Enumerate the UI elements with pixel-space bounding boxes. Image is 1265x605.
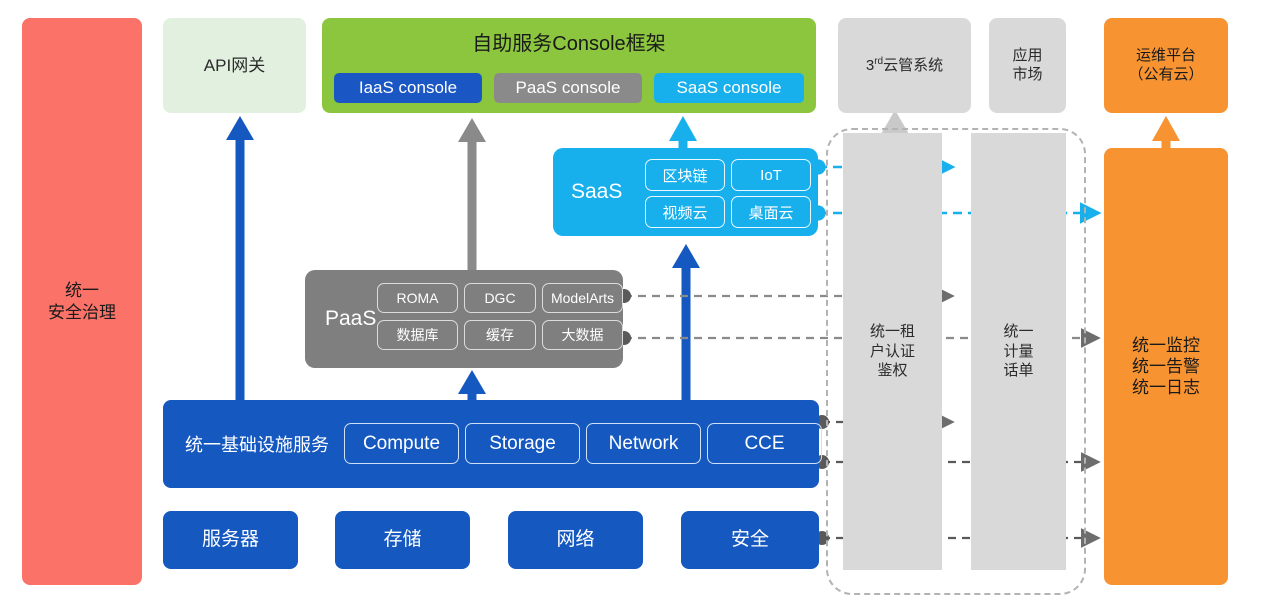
paas-item-bigdata-label: 大数据	[562, 325, 604, 345]
resource-network-label: 网络	[556, 528, 594, 552]
metering-line-1: 统一	[1003, 322, 1033, 342]
saas-item-blockchain[interactable]: 区块链	[645, 159, 725, 191]
arrow-opspanel-to-opsplatform	[1152, 116, 1180, 148]
paas-console-chip[interactable]: PaaS console	[494, 73, 642, 103]
resource-box-network[interactable]: 网络	[508, 511, 643, 569]
saas-console-chip[interactable]: SaaS console	[654, 73, 804, 103]
security-governance-label: 统一 安全治理	[48, 280, 116, 323]
saas-item-blockchain-label: 区块链	[662, 165, 707, 186]
saas-item-iot[interactable]: IoT	[731, 159, 811, 191]
saas-label: SaaS	[571, 180, 622, 204]
arrow-paas-to-console	[458, 118, 486, 272]
app-market-line-2: 市场	[1012, 66, 1042, 85]
ops-line-3: 统一日志	[1132, 377, 1200, 398]
tenant-auth-column[interactable]: 统一租 户认证 鉴权	[843, 133, 942, 570]
infra-item-network[interactable]: Network	[586, 423, 701, 464]
tenant-auth-line-2: 户认证	[870, 342, 915, 362]
metering-line-3: 话单	[1003, 361, 1033, 381]
arrow-infra-to-saas	[672, 244, 700, 400]
unified-infrastructure-bar[interactable]: 统一基础设施服务 Compute Storage Network CCE	[163, 400, 819, 488]
third-party-suffix: 云管系统	[883, 57, 943, 74]
metering-billing-label: 统一 计量 话单	[1003, 322, 1033, 381]
paas-item-roma-label: ROMA	[397, 290, 439, 306]
paas-item-dgc-label: DGC	[484, 290, 515, 306]
resource-storage-label: 存储	[383, 528, 421, 552]
paas-item-cache[interactable]: 缓存	[464, 320, 536, 350]
api-gateway-box[interactable]: API网关	[163, 18, 306, 113]
saas-console-label: SaaS console	[677, 77, 782, 98]
resource-box-storage[interactable]: 存储	[335, 511, 470, 569]
ops-platform-label: 运维平台 （公有云）	[1128, 47, 1203, 85]
metering-line-2: 计量	[1003, 342, 1033, 362]
arrow-infra-to-apigw	[226, 116, 254, 400]
resource-security-label: 安全	[731, 528, 769, 552]
third-party-sup: rd	[874, 56, 883, 67]
ops-platform-line-1: 运维平台	[1128, 47, 1203, 66]
security-line-1: 统一	[48, 280, 116, 301]
tenant-auth-line-3: 鉴权	[870, 361, 915, 381]
saas-item-video-cloud[interactable]: 视频云	[645, 196, 725, 228]
ops-platform-box[interactable]: 运维平台 （公有云）	[1104, 18, 1228, 113]
paas-item-modelarts[interactable]: ModelArts	[542, 283, 623, 313]
console-framework-box[interactable]: 自助服务Console框架 IaaS console PaaS console …	[322, 18, 816, 113]
paas-label: PaaS	[325, 307, 376, 331]
api-gateway-label: API网关	[204, 55, 265, 76]
third-party-cloud-mgmt-box[interactable]: 3rd云管系统	[838, 18, 971, 113]
paas-item-database-label: 数据库	[397, 325, 439, 345]
infra-item-compute-label: Compute	[363, 433, 440, 455]
infra-item-cce[interactable]: CCE	[707, 423, 822, 464]
paas-item-modelarts-label: ModelArts	[551, 290, 614, 306]
iaas-console-chip[interactable]: IaaS console	[334, 73, 482, 103]
paas-item-roma[interactable]: ROMA	[377, 283, 458, 313]
tenant-auth-label: 统一租 户认证 鉴权	[870, 322, 915, 381]
architecture-diagram: 统一 安全治理 API网关 自助服务Console框架 IaaS console…	[0, 0, 1265, 605]
paas-item-database[interactable]: 数据库	[377, 320, 458, 350]
ops-platform-line-2: （公有云）	[1128, 66, 1203, 85]
resource-box-security[interactable]: 安全	[681, 511, 819, 569]
security-governance-panel[interactable]: 统一 安全治理	[22, 18, 142, 585]
iaas-console-label: IaaS console	[359, 77, 457, 98]
third-party-prefix: 3	[866, 57, 874, 74]
paas-item-dgc[interactable]: DGC	[464, 283, 536, 313]
arrow-infra-to-paas	[458, 370, 486, 400]
saas-item-desktop-cloud[interactable]: 桌面云	[731, 196, 811, 228]
resource-box-server[interactable]: 服务器	[163, 511, 298, 569]
infra-item-storage[interactable]: Storage	[465, 423, 580, 464]
console-framework-title: 自助服务Console框架	[322, 32, 816, 57]
saas-box[interactable]: SaaS 区块链 IoT 视频云 桌面云	[553, 148, 818, 236]
app-market-line-1: 应用	[1012, 47, 1042, 66]
unified-infrastructure-label: 统一基础设施服务	[185, 431, 329, 457]
infra-item-cce-label: CCE	[744, 433, 784, 455]
arrow-saas-to-console	[669, 116, 697, 150]
app-market-box[interactable]: 应用 市场	[989, 18, 1066, 113]
paas-item-bigdata[interactable]: 大数据	[542, 320, 623, 350]
infra-item-storage-label: Storage	[489, 433, 556, 455]
resource-server-label: 服务器	[202, 528, 259, 552]
saas-item-desktop-cloud-label: 桌面云	[748, 202, 793, 223]
ops-line-1: 统一监控	[1132, 335, 1200, 356]
paas-console-label: PaaS console	[516, 77, 621, 98]
paas-item-cache-label: 缓存	[486, 325, 514, 345]
infra-item-compute[interactable]: Compute	[344, 423, 459, 464]
ops-line-2: 统一告警	[1132, 356, 1200, 377]
security-line-2: 安全治理	[48, 302, 116, 323]
saas-item-video-cloud-label: 视频云	[662, 202, 707, 223]
app-market-label: 应用 市场	[1012, 47, 1042, 85]
third-party-label: 3rd云管系统	[866, 56, 943, 76]
ops-capabilities-label: 统一监控 统一告警 统一日志	[1132, 335, 1200, 399]
paas-box[interactable]: PaaS ROMA DGC ModelArts 数据库 缓存 大数据	[305, 270, 623, 368]
infra-item-network-label: Network	[609, 433, 679, 455]
metering-billing-column[interactable]: 统一 计量 话单	[971, 133, 1066, 570]
saas-item-iot-label: IoT	[760, 167, 782, 184]
tenant-auth-line-1: 统一租	[870, 322, 915, 342]
ops-capabilities-panel[interactable]: 统一监控 统一告警 统一日志	[1104, 148, 1228, 585]
